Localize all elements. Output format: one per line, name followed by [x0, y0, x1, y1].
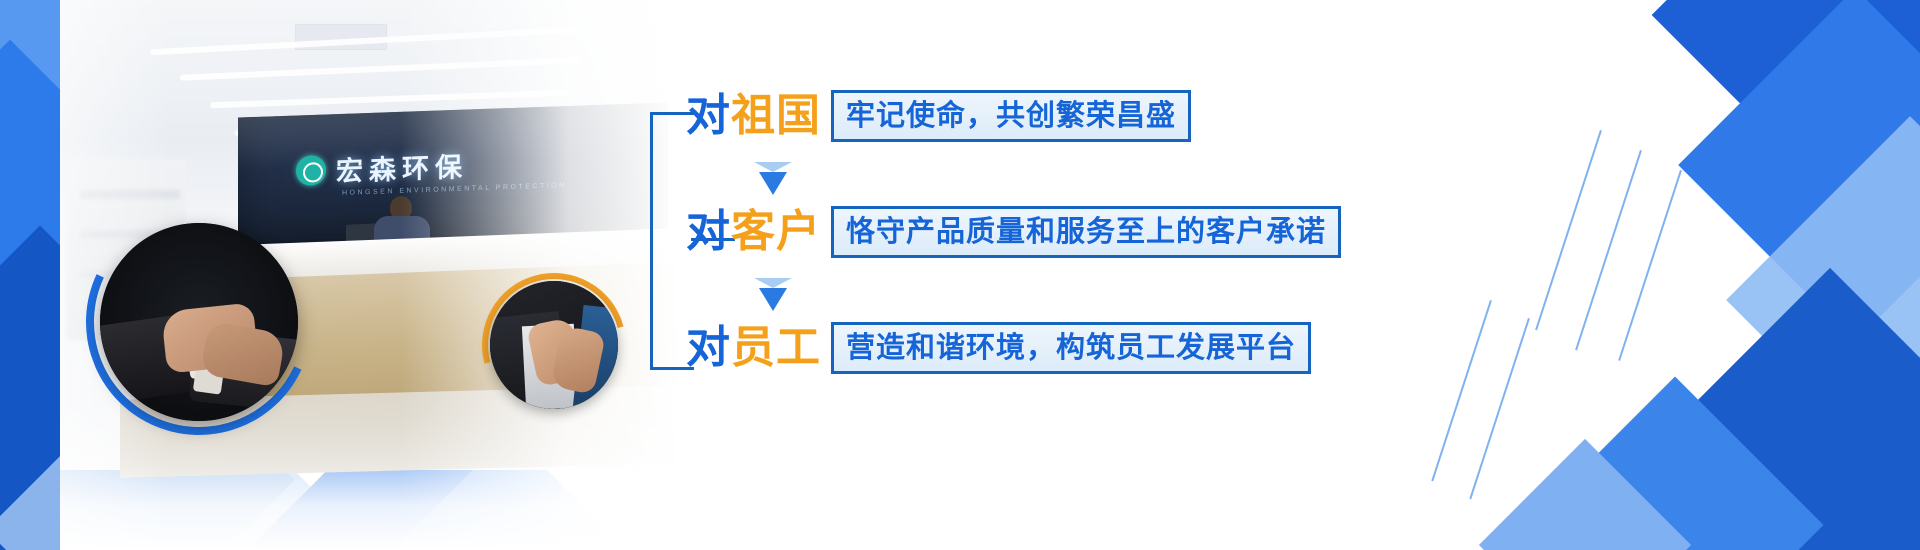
handshake-photo-circle — [100, 223, 298, 421]
down-arrow-2 — [754, 278, 792, 311]
arrow-top-bar-icon — [754, 278, 792, 288]
company-values-banner: 宏森环保 HONGSEN ENVIRONMENTAL PROTECTION — [0, 0, 1920, 550]
value-row-employee: 对员工 营造和谐环境，构筑员工发展平台 — [686, 320, 1311, 376]
value-prefix-customer: 对 — [686, 206, 731, 257]
globe-icon — [296, 154, 326, 185]
value-row-country: 对祖国 牢记使命，共创繁荣昌盛 — [686, 88, 1191, 144]
ceiling-light-strip — [210, 90, 570, 109]
value-tag-employee: 营造和谐环境，构筑员工发展平台 — [831, 322, 1311, 374]
handshake-image — [100, 223, 298, 421]
value-subject-employee: 员工 — [731, 322, 821, 373]
value-tag-country: 牢记使命，共创繁荣昌盛 — [831, 90, 1191, 142]
teamwork-photo-circle — [490, 281, 618, 409]
values-content: 对祖国 牢记使命，共创繁荣昌盛 对客户 恪守产品质量和服务至上的客户承诺 对员工… — [650, 70, 1350, 400]
value-row-customer: 对客户 恪守产品质量和服务至上的客户承诺 — [686, 204, 1341, 260]
value-subject-customer: 客户 — [731, 206, 821, 257]
decoration-hairline — [1618, 170, 1682, 361]
arrow-top-bar-icon — [754, 162, 792, 172]
arrow-triangle-icon — [759, 288, 787, 311]
company-logo: 宏森环保 — [296, 145, 468, 190]
value-subject-country: 祖国 — [731, 90, 821, 141]
arrow-triangle-icon — [759, 172, 787, 195]
shelf-line — [80, 190, 180, 199]
value-prefix-country: 对 — [686, 90, 731, 141]
decoration-hairline — [1469, 318, 1530, 499]
company-logo-text: 宏森环保 — [336, 145, 468, 189]
down-arrow-1 — [754, 162, 792, 195]
value-tag-customer: 恪守产品质量和服务至上的客户承诺 — [831, 206, 1341, 258]
value-prefix-employee: 对 — [686, 322, 731, 373]
ceiling-light-strip — [180, 57, 580, 80]
